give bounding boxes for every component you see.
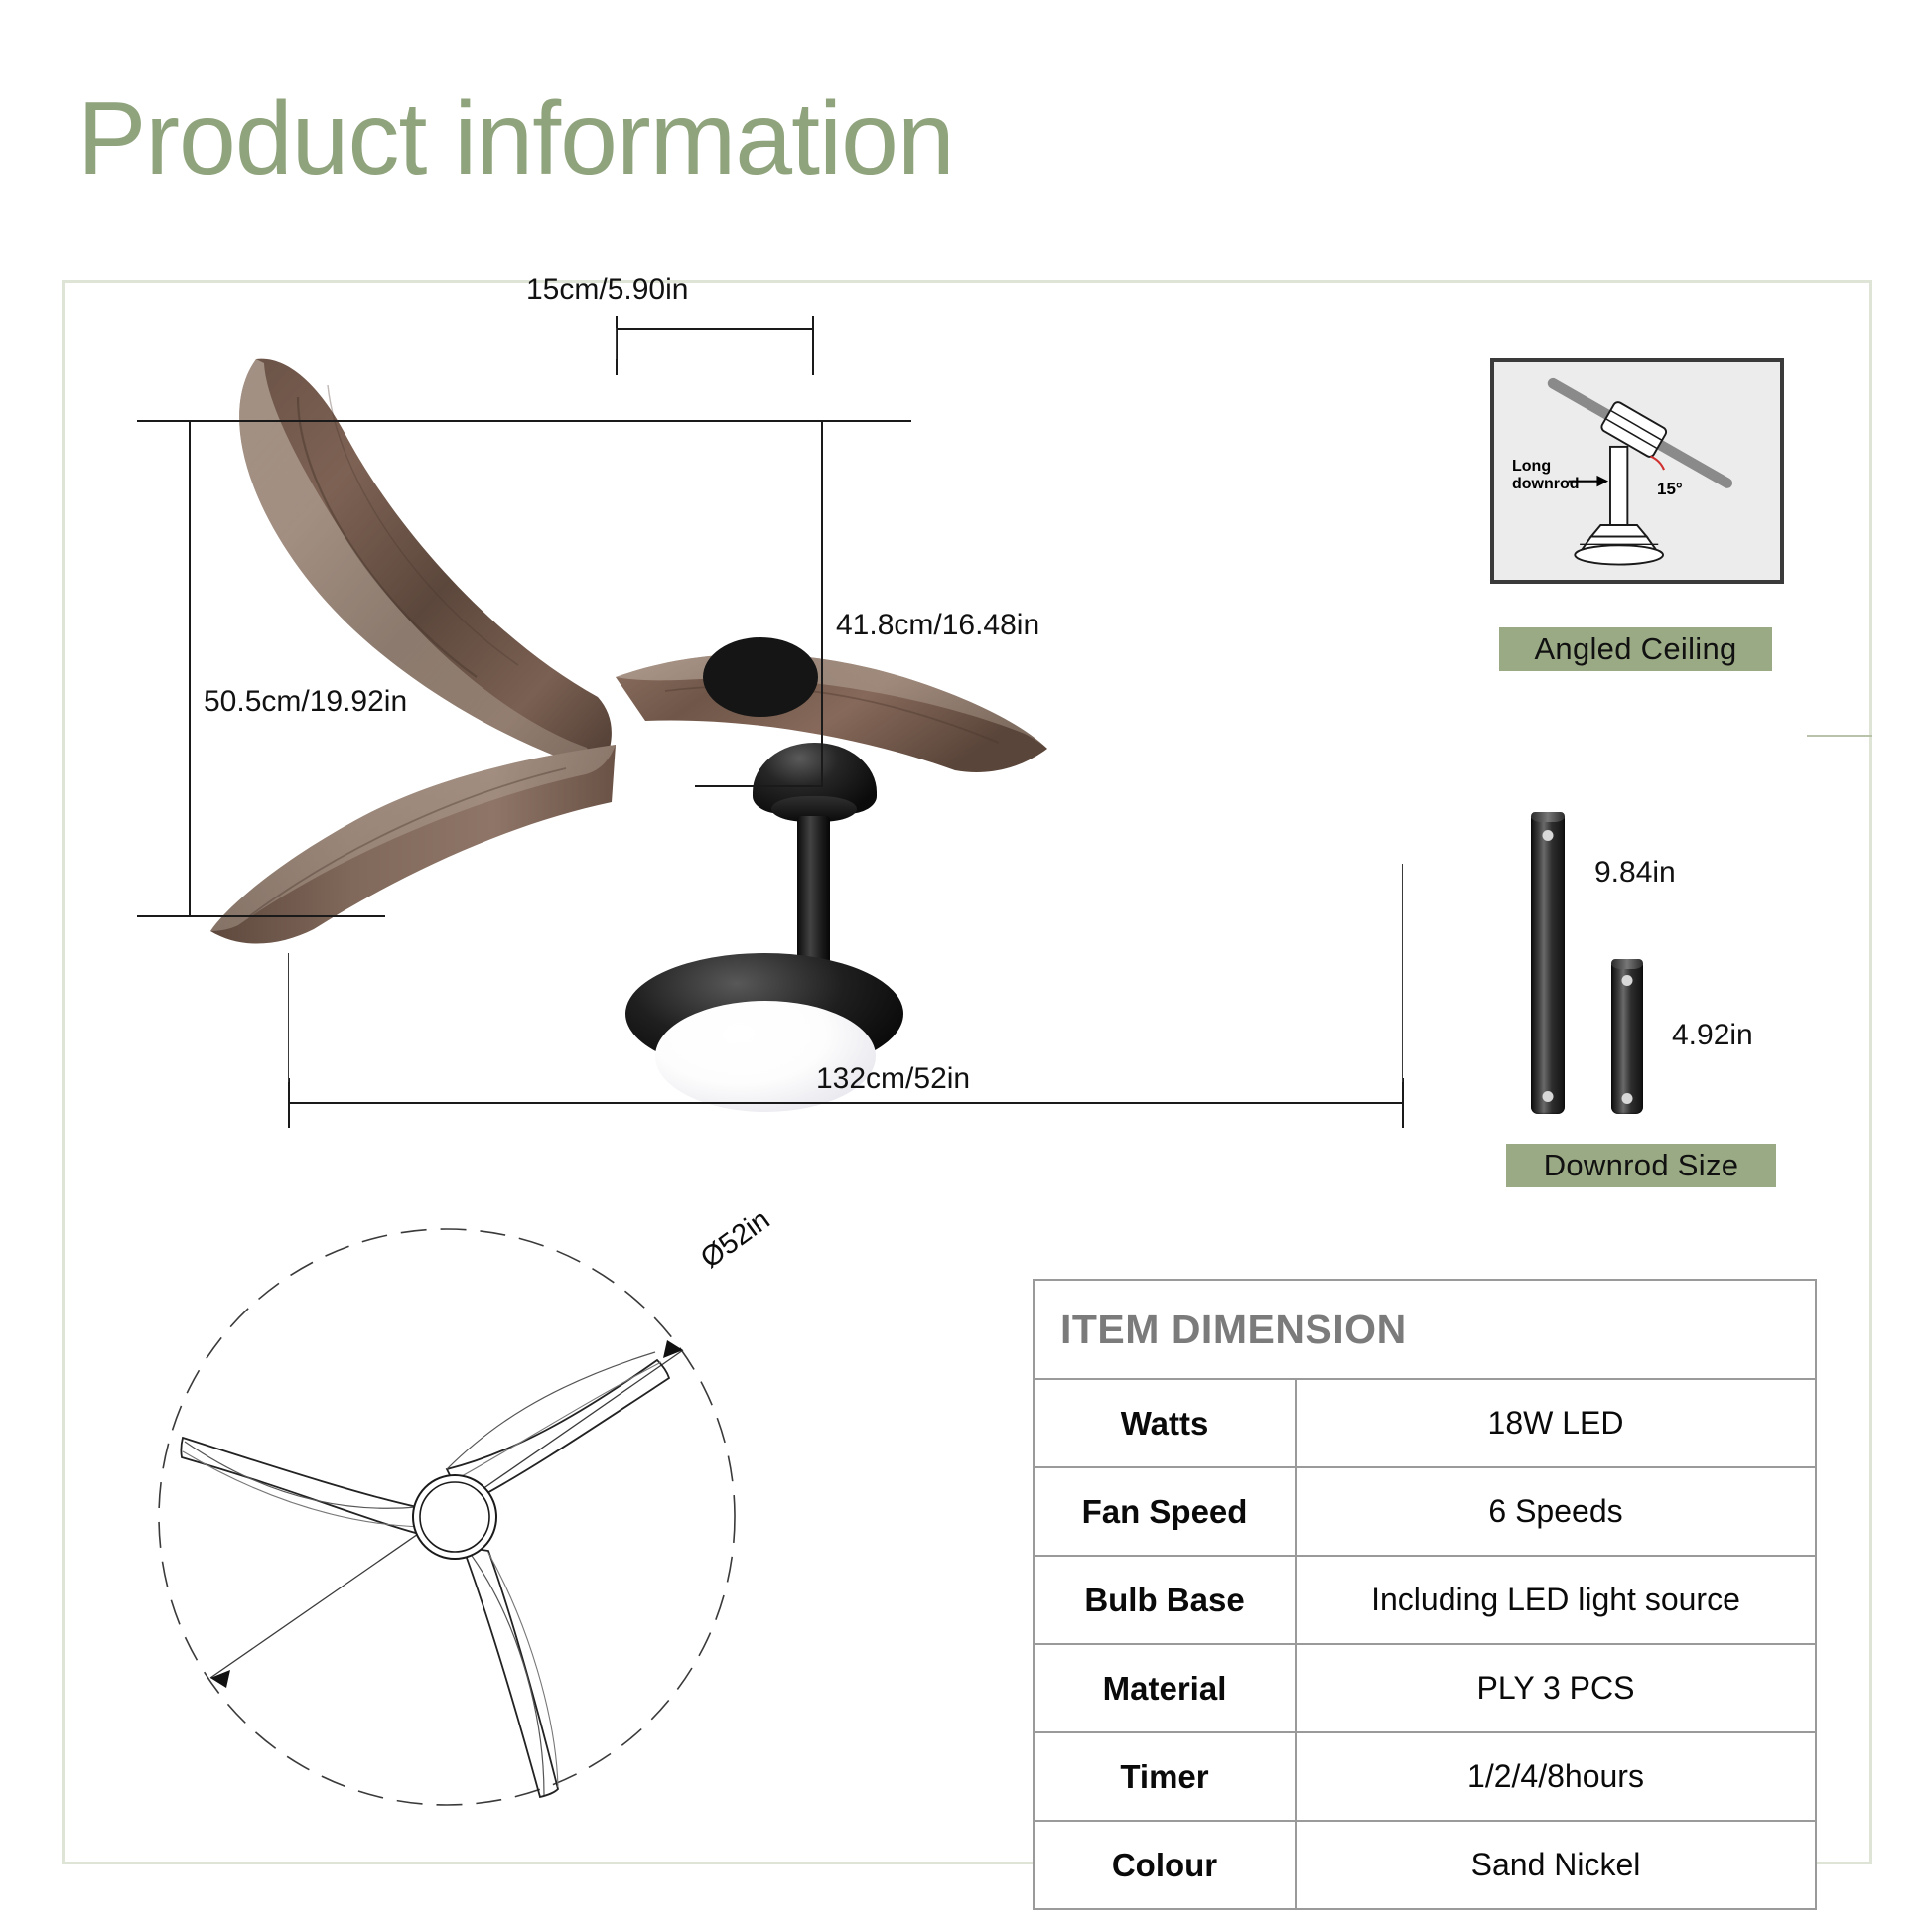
row-value-colour: Sand Nickel — [1296, 1821, 1816, 1909]
dim-blade-span-tick-right — [1402, 1078, 1404, 1128]
downrod-long-label: 9.84in — [1594, 856, 1676, 890]
angled-ceiling-diagram: Long downrod 15° — [1490, 358, 1784, 584]
dim-hang-height: 41.8cm/16.48in — [836, 609, 1039, 642]
long-downrod-callout: Long downrod — [1512, 458, 1580, 494]
row-value-bulb-base: Including LED light source — [1296, 1556, 1816, 1644]
table-row: Bulb Base Including LED light source — [1034, 1556, 1816, 1644]
row-label-timer: Timer — [1034, 1732, 1296, 1821]
row-value-material: PLY 3 PCS — [1296, 1644, 1816, 1732]
dim-canopy-width: 15cm/5.90in — [526, 273, 688, 307]
downrod-short-label: 4.92in — [1672, 1019, 1753, 1052]
downrod-short — [1611, 959, 1643, 1114]
row-label-colour: Colour — [1034, 1821, 1296, 1909]
table-header-row: ITEM DIMENSION — [1034, 1280, 1816, 1379]
dim-canopy-width-line — [616, 328, 814, 330]
downrod-short-hole-bottom — [1622, 1093, 1633, 1104]
table-row: Timer 1/2/4/8hours — [1034, 1732, 1816, 1821]
table-header: ITEM DIMENSION — [1034, 1280, 1816, 1379]
downrod-short-hole-top — [1622, 975, 1633, 986]
table-row: Material PLY 3 PCS — [1034, 1644, 1816, 1732]
downrod-long-hole-top — [1543, 830, 1554, 841]
dim-canopy-width-tick-right — [812, 316, 814, 375]
fan-downrod — [797, 816, 830, 965]
row-label-fan-speed: Fan Speed — [1034, 1467, 1296, 1556]
ext-line-span-right — [1402, 864, 1403, 1082]
dim-total-height-bottom — [137, 915, 385, 917]
dim-hang-height-line — [821, 420, 823, 787]
ext-line-span-left — [288, 953, 289, 1082]
row-value-watts: 18W LED — [1296, 1379, 1816, 1467]
dim-blade-span-line — [288, 1102, 1404, 1104]
angled-ceiling-banner: Angled Ceiling — [1499, 627, 1772, 671]
table-row: Colour Sand Nickel — [1034, 1821, 1816, 1909]
table-row: Fan Speed 6 Speeds — [1034, 1467, 1816, 1556]
dim-blade-span: 132cm/52in — [816, 1062, 970, 1096]
page-title: Product information — [77, 87, 954, 191]
dim-hang-height-bottom — [695, 785, 822, 787]
downrod-long-hole-bottom — [1543, 1091, 1554, 1102]
angle-label: 15° — [1657, 480, 1683, 499]
dim-total-height-line — [189, 420, 191, 916]
row-label-material: Material — [1034, 1644, 1296, 1732]
row-value-timer: 1/2/4/8hours — [1296, 1732, 1816, 1821]
right-section-divider — [1807, 735, 1872, 737]
fan-top-view-diagram — [119, 1172, 834, 1866]
ext-line-canopy-left — [616, 328, 617, 359]
dim-blade-span-tick-left — [288, 1078, 290, 1128]
row-value-fan-speed: 6 Speeds — [1296, 1467, 1816, 1556]
downrod-long-cap — [1531, 812, 1565, 822]
callout-line-2: downrod — [1512, 476, 1580, 492]
row-label-bulb-base: Bulb Base — [1034, 1556, 1296, 1644]
downrod-short-cap — [1611, 959, 1643, 969]
item-dimension-table: ITEM DIMENSION Watts 18W LED Fan Speed 6… — [1033, 1279, 1817, 1910]
row-label-watts: Watts — [1034, 1379, 1296, 1467]
callout-line-1: Long — [1512, 458, 1551, 475]
table-row: Watts 18W LED — [1034, 1379, 1816, 1467]
downrod-long — [1531, 812, 1565, 1114]
dim-total-height: 50.5cm/19.92in — [204, 685, 407, 719]
ceiling-reference-line — [137, 420, 911, 422]
downrod-size-banner: Downrod Size — [1506, 1144, 1776, 1187]
